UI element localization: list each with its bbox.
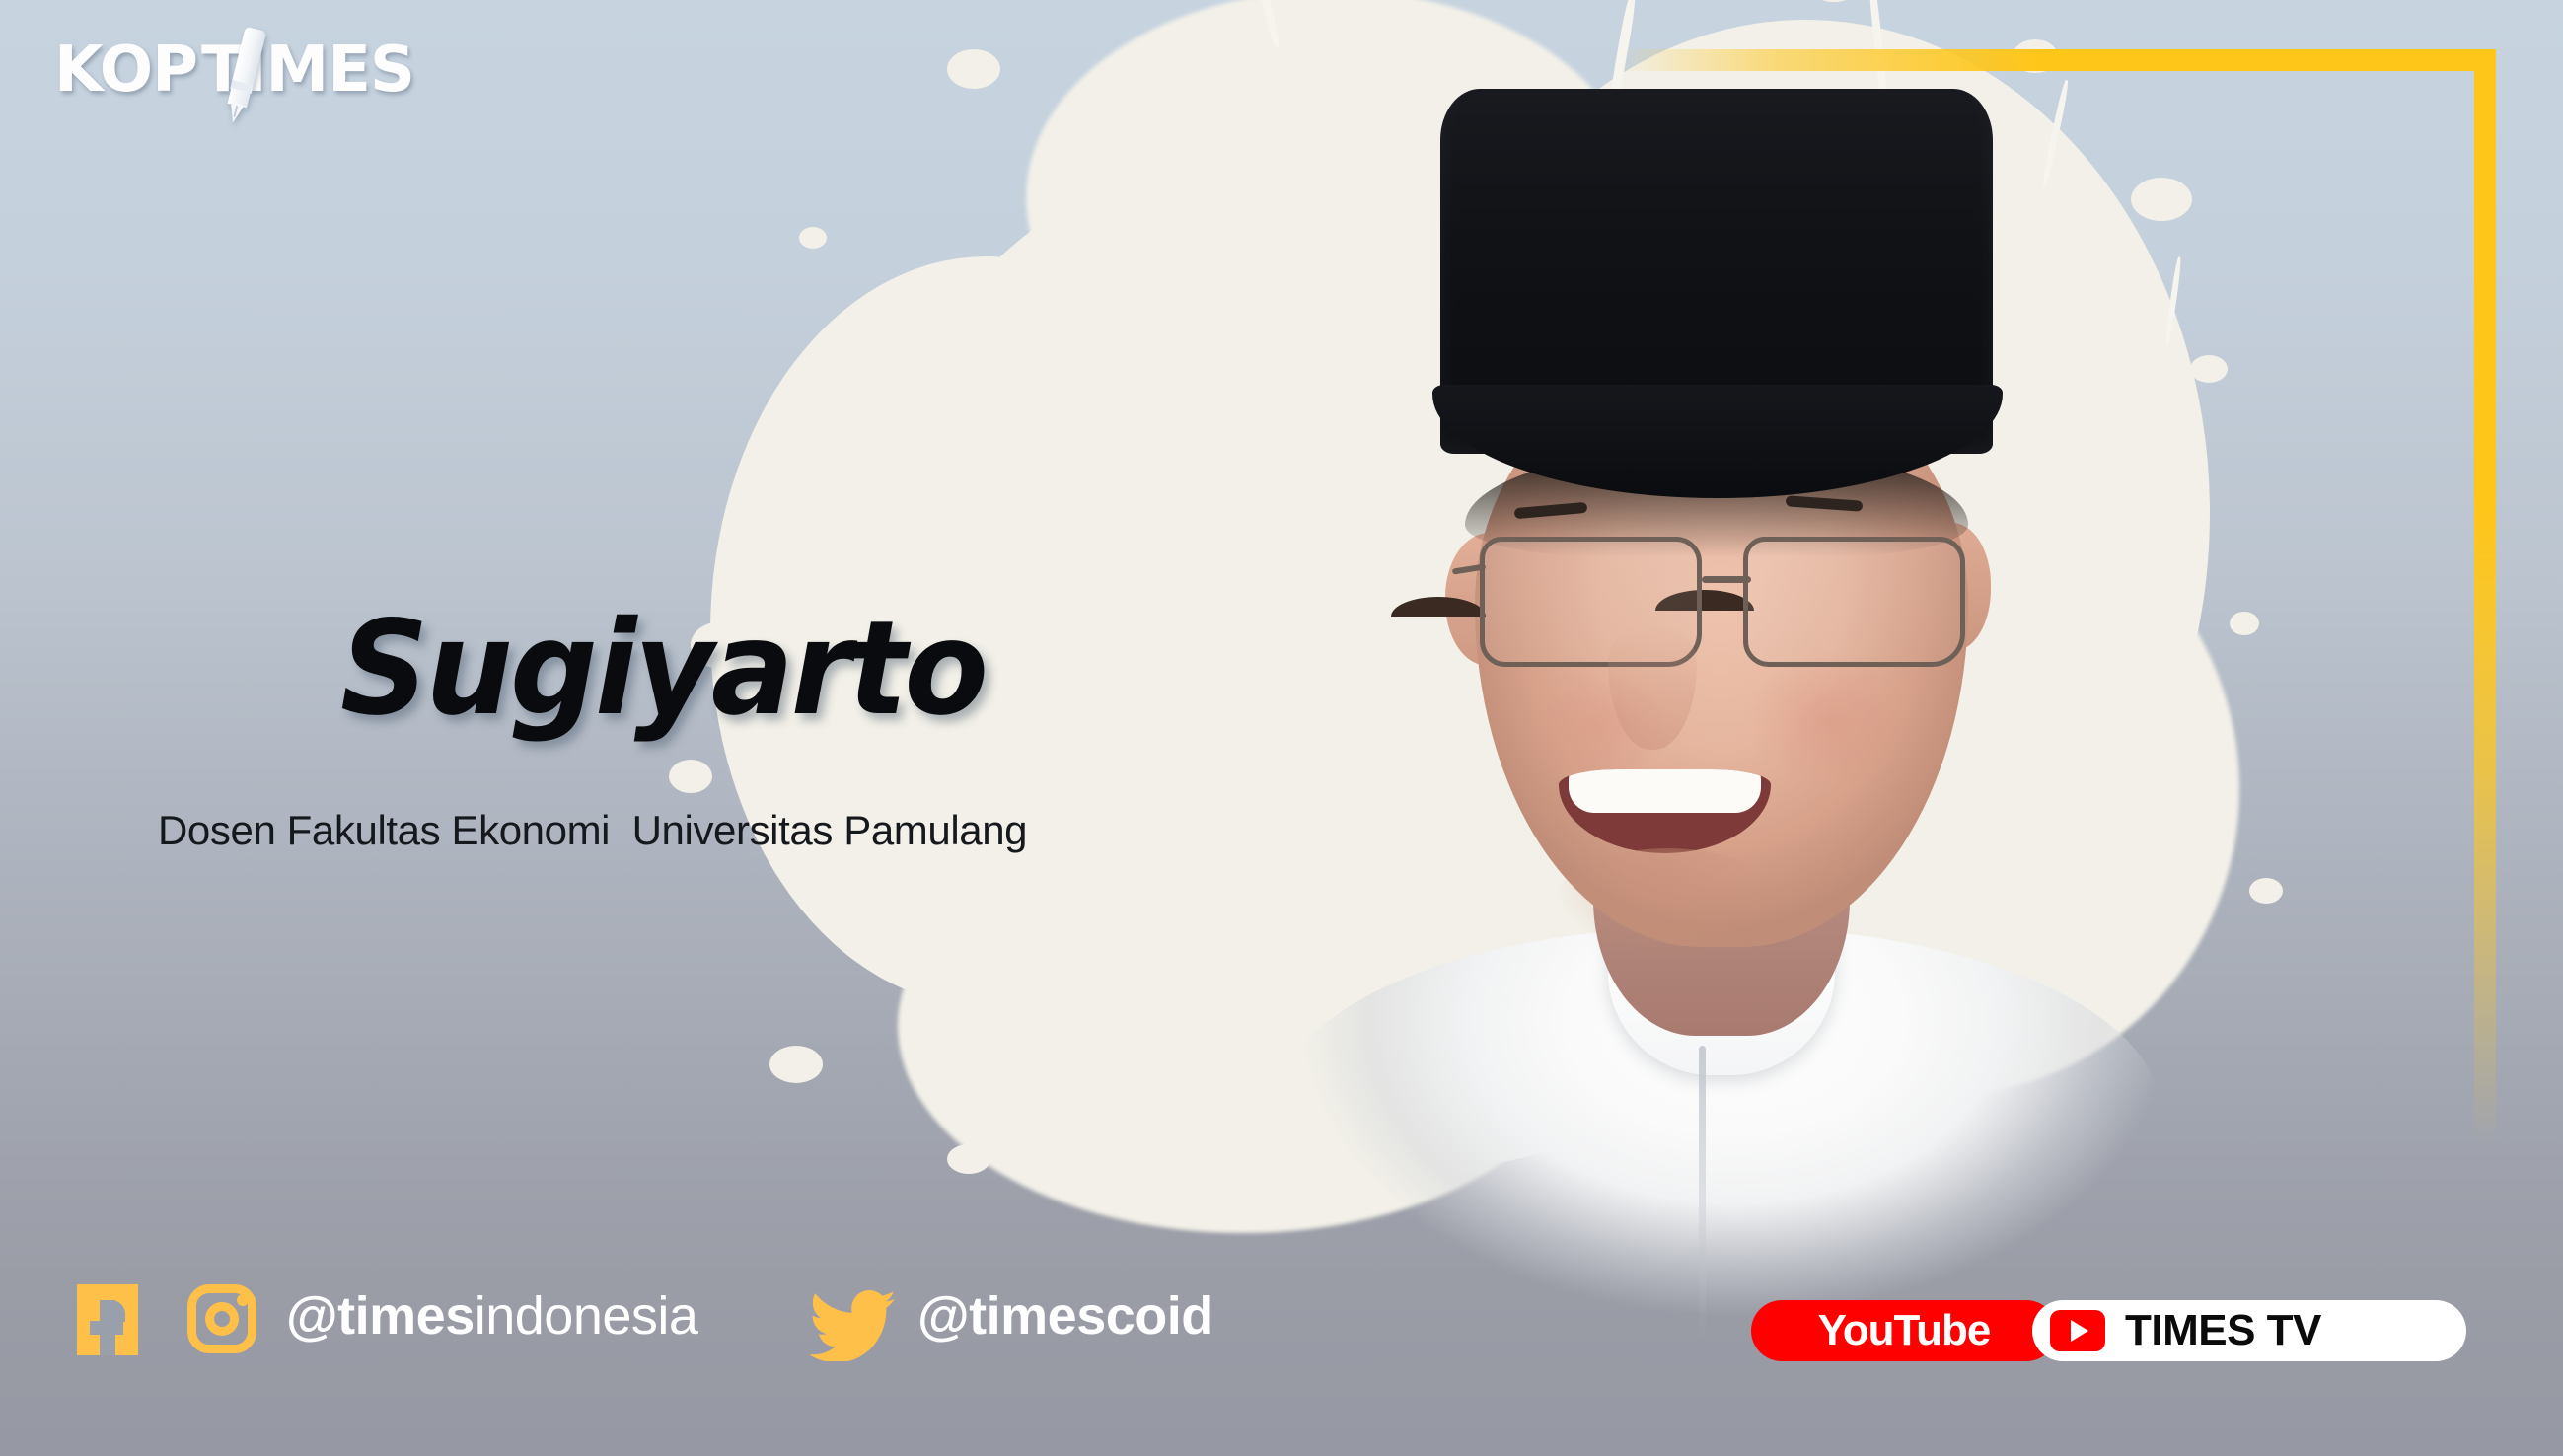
person-name: Sugiyarto [340,604,986,734]
instagram-handle-bold: @times [286,1286,475,1346]
chin [1554,848,1781,957]
twitter-bird-icon[interactable] [809,1290,896,1361]
brand-logo[interactable]: KOP TIMES [54,37,414,103]
glasses-bridge [1702,576,1751,583]
brand-logo-kopi: KOP [54,34,201,107]
instagram-handle-light: indonesia [475,1286,698,1346]
portrait-photo [1312,59,2101,1401]
youtube-play-icon [2050,1310,2105,1351]
instagram-handle[interactable]: @timesindonesia [286,1285,697,1347]
facebook-icon-bar [90,1321,123,1335]
youtube-button[interactable]: YouTube [1751,1300,2057,1361]
instagram-icon-lens [205,1302,239,1336]
lens-right [1743,537,1965,667]
times-tv-label: TIMES TV [2125,1306,2321,1355]
eyeglasses-icon [1462,523,1985,691]
teeth [1569,769,1761,813]
twitter-handle[interactable]: @timescoid [917,1285,1213,1347]
person-title: Dosen Fakultas Ekonomi Universitas Pamul… [158,807,1027,854]
frame-accent-right [2474,49,2496,1144]
instagram-icon-dot [237,1294,249,1306]
times-tv-channel-badge[interactable]: TIMES TV [2032,1300,2466,1361]
poster-canvas: KOP TIMES Sugiyarto Dosen Fakultas Ekono… [0,0,2563,1456]
frame-accent-top [1618,49,2496,71]
